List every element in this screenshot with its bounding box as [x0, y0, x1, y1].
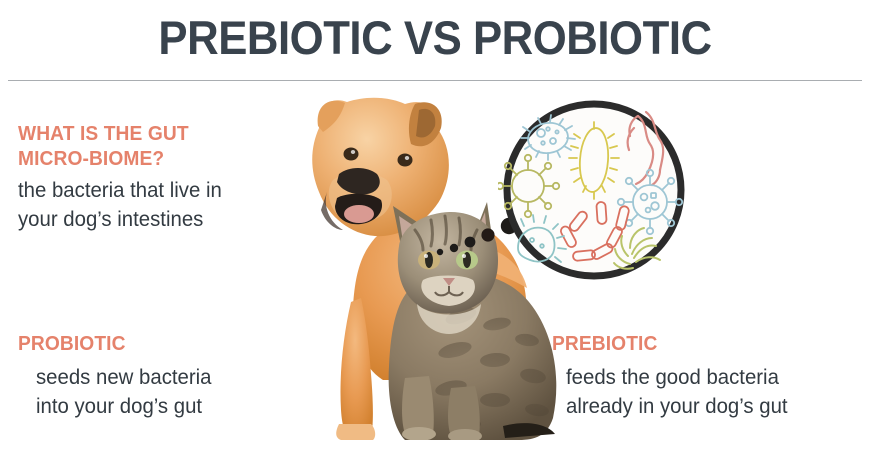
dog-left-eye — [344, 148, 359, 161]
title-bar: PREBIOTIC VS PROBIOTIC — [0, 0, 870, 82]
page-title: PREBIOTIC VS PROBIOTIC — [30, 8, 839, 68]
gut-microbiome-circle — [498, 98, 690, 282]
microbiome-circle-svg — [498, 98, 690, 282]
infographic-canvas: PREBIOTIC VS PROBIOTIC WHAT IS THE GUT M… — [0, 0, 870, 460]
dog-head — [312, 98, 449, 236]
title-divider — [8, 80, 862, 81]
dog-right-eye — [398, 154, 413, 167]
